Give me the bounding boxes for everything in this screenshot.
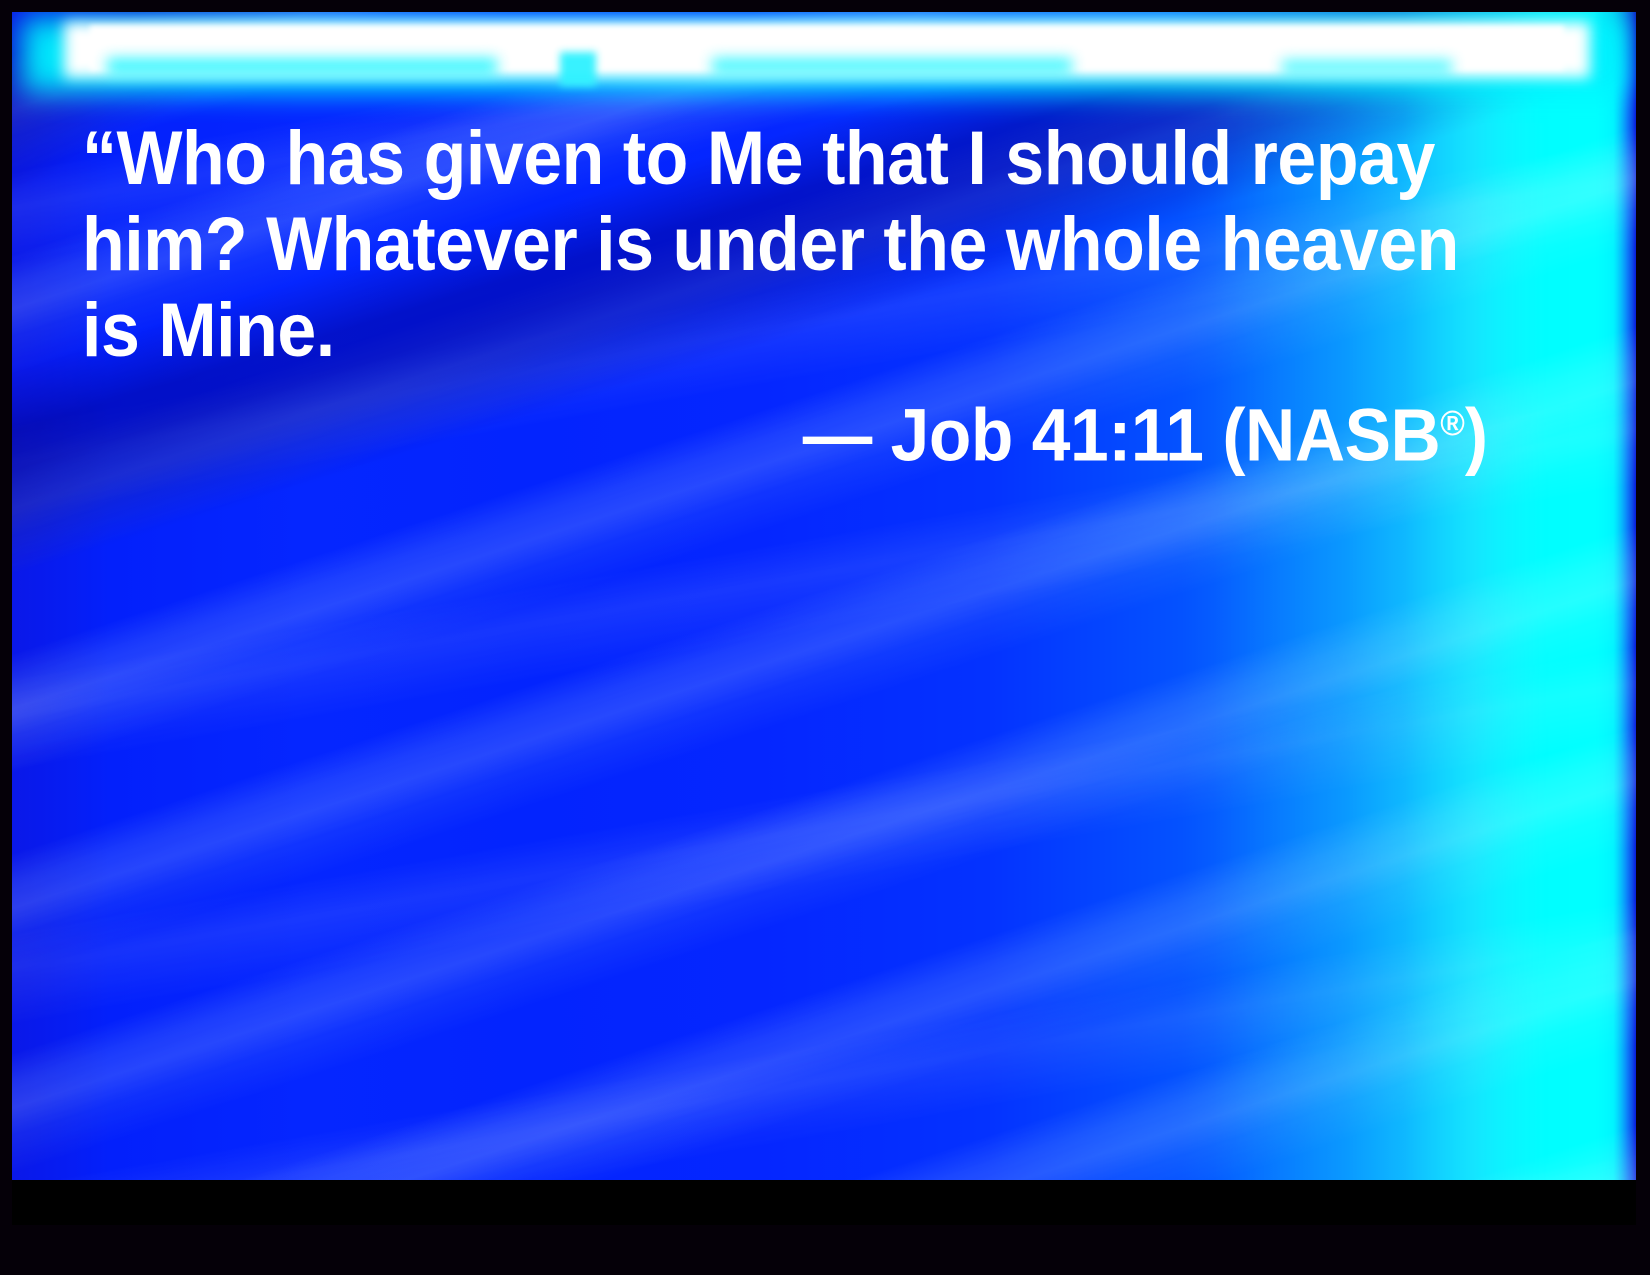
attribution-translation-open: (NASB (1223, 394, 1441, 477)
quote-line-1: “Who has given to Me that I should repay (82, 116, 1388, 202)
attribution-translation-close: ) (1465, 394, 1488, 477)
scripture-reference: — Job 41:11 (NASB®) (803, 380, 1488, 479)
quote-text-block: “Who has given to Me that I should repay… (82, 116, 1502, 374)
registered-trademark-icon: ® (1441, 403, 1466, 443)
attribution-dash: — (803, 394, 872, 477)
bottom-black-band (12, 1180, 1636, 1225)
quote-line-3: is Mine. (82, 288, 1388, 374)
slide-content-area: “Who has given to Me that I should repay… (12, 12, 1636, 1225)
slide-canvas: “Who has given to Me that I should repay… (0, 0, 1650, 1275)
quote-line-2: him? Whatever is under the whole heaven (82, 202, 1388, 288)
attribution-reference: Job 41:11 (891, 394, 1204, 477)
